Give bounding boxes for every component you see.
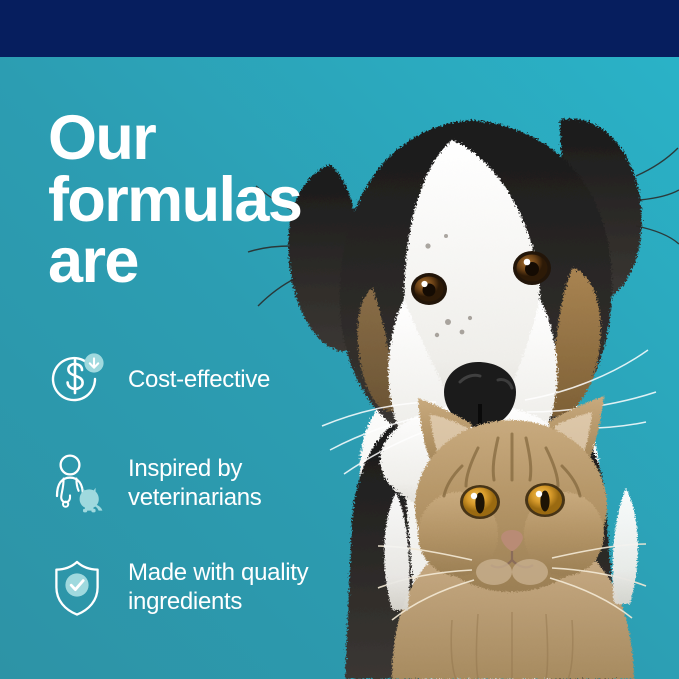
feature-label-cost-effective: Cost-effective (128, 366, 270, 395)
headline-line-2: formulas (48, 170, 301, 232)
feature-item-inspired-by-veterinarians: Inspired by veterinarians (46, 448, 376, 520)
dollar-circle-down-arrow-icon (46, 347, 108, 413)
veterinarian-with-cat-icon (46, 451, 108, 517)
feature-item-cost-effective: Cost-effective (46, 344, 376, 416)
feature-label-made-with-quality-ingredients: Made with quality ingredients (128, 559, 308, 617)
feature-label-line-1: Made with quality (128, 559, 308, 586)
shield-check-icon (46, 555, 108, 621)
feature-label-line-1: Inspired by (128, 455, 242, 482)
brand-header-bar (0, 0, 679, 57)
feature-label-inspired-by-veterinarians: Inspired by veterinarians (128, 455, 262, 513)
feature-list: Cost-effective (46, 344, 376, 624)
advertisement-banner: Our formulas are Cost-effective (0, 0, 679, 679)
headline-line-3: are (48, 231, 301, 293)
headline-line-1: Our (48, 108, 301, 170)
feature-label-line-2: ingredients (128, 588, 242, 615)
page-title: Our formulas are (48, 108, 301, 293)
feature-label-line-2: veterinarians (128, 484, 262, 511)
feature-item-made-with-quality-ingredients: Made with quality ingredients (46, 552, 376, 624)
